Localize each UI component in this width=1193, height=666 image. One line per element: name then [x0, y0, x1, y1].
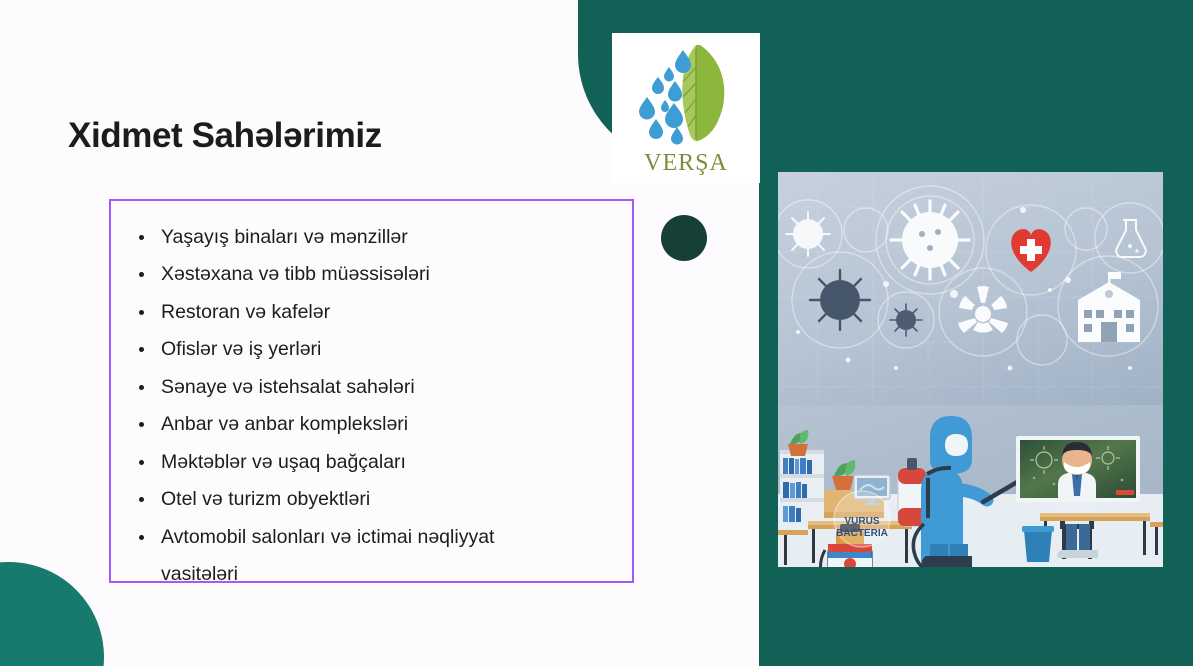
slide-canvas: Xidmet Sahələrimiz Yaşayış binaları və m… [0, 0, 1193, 666]
list-item: Ofislər və iş yerləri [133, 331, 632, 368]
list-item: Yaşayış binaları və mənzillər [133, 219, 632, 256]
photo-illustration: DISINFECTANT [778, 172, 1163, 567]
bacteria-caption: BACTERIA [836, 528, 888, 539]
list-item: Anbar və anbar kompleksləri [133, 406, 632, 443]
logo-art-icon [612, 37, 760, 149]
company-logo: VERŞA [612, 33, 760, 183]
list-item: Sənaye və istehsalat sahələri [133, 369, 632, 406]
virus-caption: VURUS [844, 516, 879, 527]
list-item: Avtomobil salonları və ictimai nəqliyyat… [133, 519, 563, 594]
list-item: Restoran və kafelər [133, 294, 632, 331]
page-title: Xidmet Sahələrimiz [68, 116, 382, 156]
list-item: Məktəblər və uşaq bağçaları [133, 444, 632, 481]
services-list: Yaşayış binaları və mənzillər Xəstəxana … [111, 219, 632, 593]
list-item: Otel və turizm obyektləri [133, 481, 632, 518]
services-list-box: Yaşayış binaları və mənzillər Xəstəxana … [109, 199, 634, 583]
logo-wordmark: VERŞA [612, 150, 760, 177]
dark-green-dot-icon [661, 215, 707, 261]
seated-student [1056, 442, 1098, 559]
teal-corner-circle [0, 562, 104, 666]
list-item: Xəstəxana və tibb müəssisələri [133, 256, 632, 293]
disinfection-photo: DISINFECTANT [778, 172, 1163, 567]
